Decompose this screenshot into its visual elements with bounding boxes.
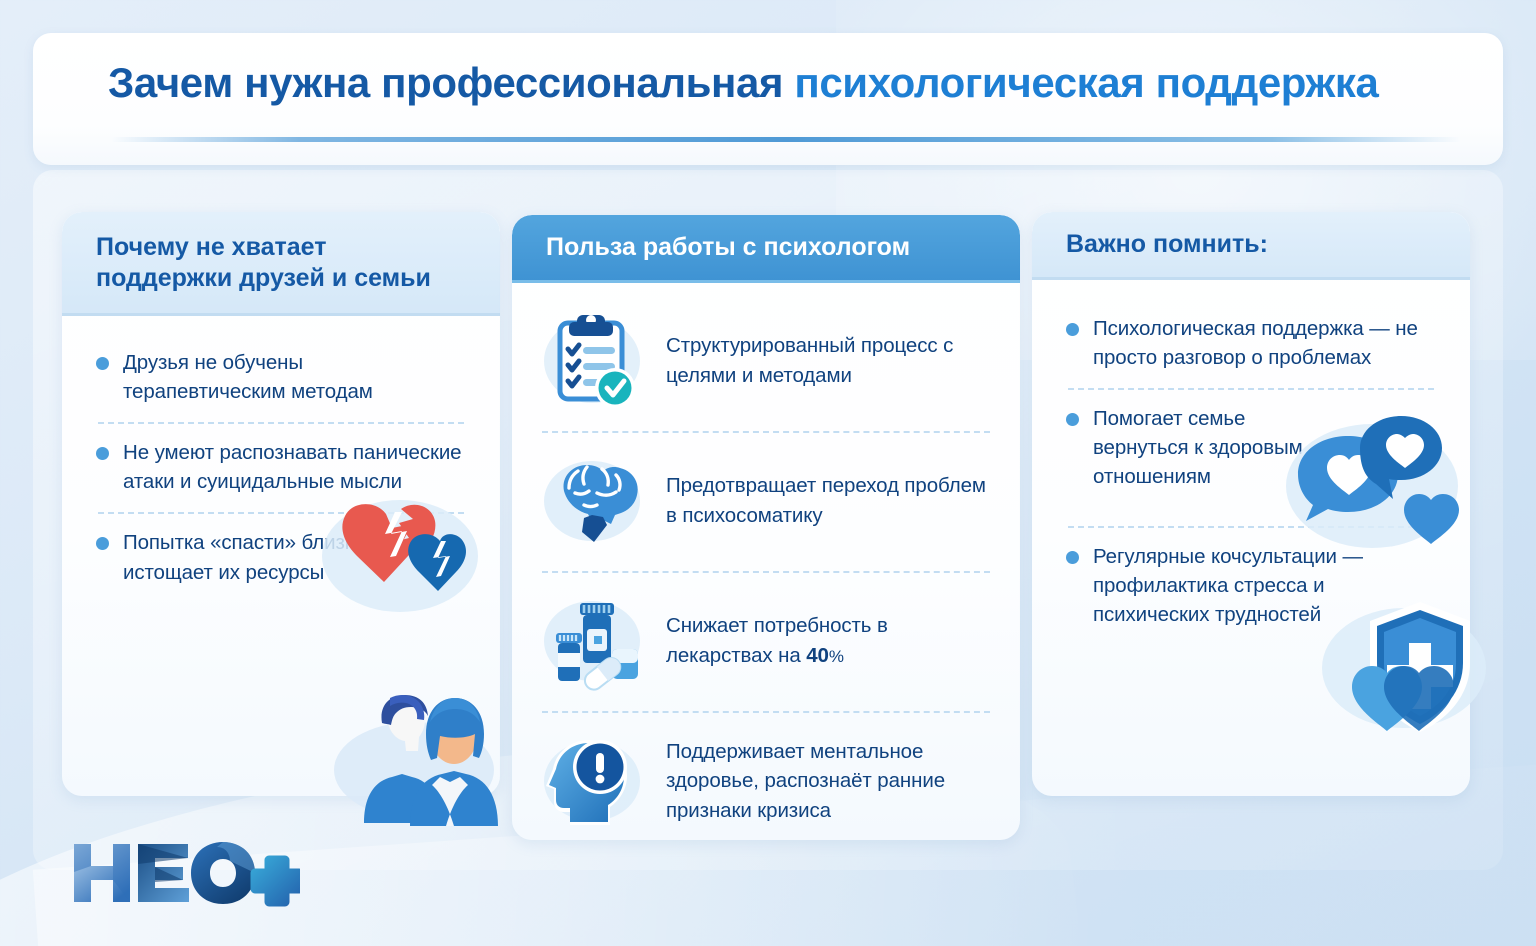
list-item: Снижает потребность в лекарствах на 40% — [540, 573, 992, 711]
list-item: Друзья не обучены терапевтическим метода… — [96, 334, 466, 422]
neo-plus-logo — [68, 838, 300, 908]
list-item-label: Поддерживает ментальное здоровье, распоз… — [666, 737, 992, 826]
list-item: Структурированный процесс с целями и мет… — [540, 293, 992, 431]
list-item-label: Психологическая поддержка — не просто ра… — [1093, 314, 1436, 372]
list-item-label: Снижает потребность в лекарствах на 40% — [666, 611, 992, 670]
list-item-label: Помогает семье вернуться к здоровым отно… — [1093, 404, 1323, 491]
right-column: Важно помнить: Психологическая поддержка… — [1032, 212, 1470, 796]
title-card: Зачем нужна профессиональная психологиче… — [33, 33, 1503, 165]
left-column-card: Почему не хватает поддержки друзей и сем… — [62, 212, 500, 796]
head-exclamation-icon — [540, 729, 648, 833]
list-item-label-prefix: Снижает потребность в лекарствах на — [666, 614, 888, 667]
center-column-card: Польза работы с психологом — [512, 215, 1020, 840]
bullet-dot-icon — [1066, 323, 1079, 336]
right-column-card: Важно помнить: Психологическая поддержка… — [1032, 212, 1470, 796]
list-item: Попытка «спасти» близкого истощает их ре… — [96, 514, 466, 602]
right-column-list: Психологическая поддержка — не просто ра… — [1032, 300, 1470, 646]
bullet-dot-icon — [96, 537, 109, 550]
list-item: Поддерживает ментальное здоровье, распоз… — [540, 713, 992, 840]
list-item-label-suffix: % — [829, 647, 844, 666]
list-item-label: Не умеют распознавать панические атаки и… — [123, 438, 466, 496]
page-title-part-two: психологическая поддержка — [794, 59, 1378, 106]
left-column-header: Почему не хватает поддержки друзей и сем… — [62, 212, 500, 316]
page-title: Зачем нужна профессиональная психологиче… — [108, 59, 1378, 107]
pills-bottles-icon — [540, 589, 648, 693]
bullet-dot-icon — [1066, 413, 1079, 426]
list-item: Психологическая поддержка — не просто ра… — [1066, 300, 1436, 388]
clipboard-checklist-icon — [540, 309, 648, 413]
list-item: Регулярные кочсультации — профилактика с… — [1066, 528, 1436, 645]
center-column-header-label: Польза работы с психологом — [546, 233, 910, 262]
center-column-list: Структурированный процесс с целями и мет… — [512, 293, 1020, 840]
right-column-header-label: Важно помнить: — [1066, 229, 1268, 260]
right-column-header: Важно помнить: — [1032, 212, 1470, 280]
list-item: Предотвращает переход проблем в психосом… — [540, 433, 992, 571]
list-item-label: Регулярные кочсультации — профилактика с… — [1093, 542, 1385, 629]
center-column: Польза работы с психологом — [512, 215, 1020, 840]
brain-icon — [540, 449, 648, 553]
list-item-label: Структурированный процесс с целями и мет… — [666, 331, 992, 390]
list-item-label: Предотвращает переход проблем в психосом… — [666, 471, 992, 530]
bullet-dot-icon — [96, 447, 109, 460]
bullet-dot-icon — [1066, 551, 1079, 564]
list-item-value: 40 — [806, 644, 829, 667]
list-item-label: Друзья не обучены терапевтическим метода… — [123, 348, 466, 406]
list-item-label: Попытка «спасти» близкого истощает их ре… — [123, 528, 466, 586]
left-column-header-label: Почему не хватает поддержки друзей и сем… — [96, 232, 466, 294]
list-item: Помогает семье вернуться к здоровым отно… — [1066, 390, 1436, 526]
page-title-part-one: Зачем нужна профессиональная — [108, 59, 794, 106]
bullet-dot-icon — [96, 357, 109, 370]
title-underline — [111, 137, 1461, 142]
left-column-list: Друзья не обучены терапевтическим метода… — [62, 334, 500, 603]
center-column-header: Польза работы с психологом — [512, 215, 1020, 283]
list-item: Не умеют распознавать панические атаки и… — [96, 424, 466, 512]
left-column: Почему не хватает поддержки друзей и сем… — [62, 212, 500, 796]
